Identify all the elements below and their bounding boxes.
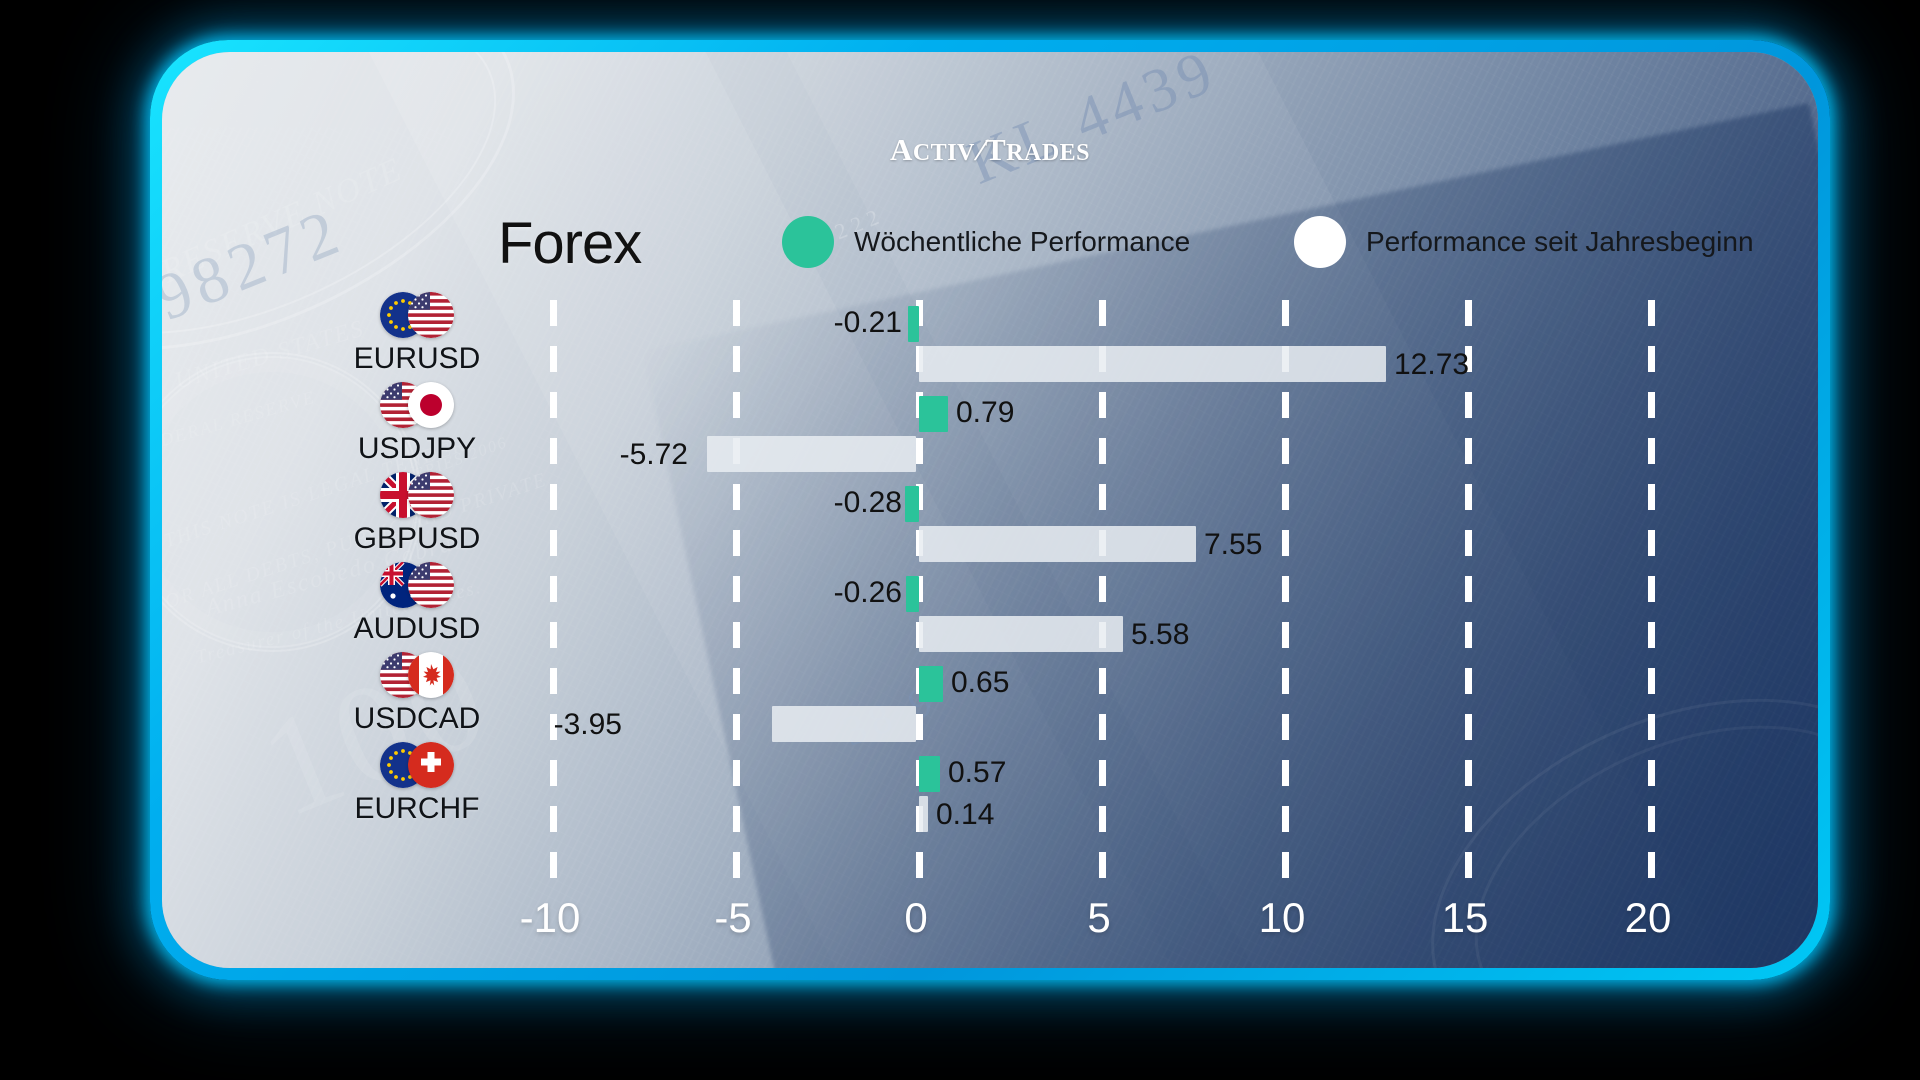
bar-value-ytd-eurusd: 12.73 bbox=[1394, 350, 1469, 380]
bar-ytd-gbpusd[interactable] bbox=[919, 526, 1196, 562]
bar-value-ytd-gbpusd: 7.55 bbox=[1204, 530, 1262, 560]
legend-label-weekly: Wöchentliche Performance bbox=[854, 226, 1190, 258]
us-flag-icon bbox=[408, 472, 454, 518]
bar-group-usdcad: 0.65 -3.95 bbox=[462, 660, 1742, 750]
logo-rades: RADES bbox=[1006, 140, 1090, 166]
x-tick-10: 10 bbox=[1259, 894, 1306, 942]
bar-group-eurchf: 0.57 0.14 bbox=[462, 750, 1742, 840]
bar-value-weekly-usdjpy: 0.79 bbox=[956, 398, 1014, 428]
bar-group-gbpusd: -0.28 7.55 bbox=[462, 480, 1742, 570]
bar-weekly-gbpusd[interactable] bbox=[905, 486, 919, 522]
bar-weekly-eurchf[interactable] bbox=[919, 756, 940, 792]
x-tick--10: -10 bbox=[520, 894, 581, 942]
bar-value-ytd-eurchf: 0.14 bbox=[936, 800, 994, 830]
legend-swatch-ytd bbox=[1294, 216, 1346, 268]
activtrades-logo: ACTIV/TRADES bbox=[890, 132, 1090, 168]
bar-group-audusd: -0.26 5.58 bbox=[462, 570, 1742, 660]
legend-label-ytd: Performance seit Jahresbeginn bbox=[1366, 226, 1754, 258]
ch-flag-icon bbox=[408, 742, 454, 788]
bar-group-usdjpy: 0.79 -5.72 bbox=[462, 390, 1742, 480]
bar-weekly-usdcad[interactable] bbox=[919, 666, 943, 702]
flag-pair-eurchf bbox=[380, 742, 454, 788]
bar-value-ytd-usdjpy: -5.72 bbox=[620, 440, 688, 470]
bar-ytd-eurusd[interactable] bbox=[919, 346, 1386, 382]
flag-pair-usdjpy bbox=[380, 382, 454, 428]
logo-a: A bbox=[890, 132, 913, 167]
screenshot-root: RESERVE NOTE UNITED STATES THIS NOTE IS … bbox=[0, 0, 1920, 1080]
flag-pair-audusd bbox=[380, 562, 454, 608]
flag-pair-eurusd bbox=[380, 292, 454, 338]
legend-item-ytd[interactable]: Performance seit Jahresbeginn bbox=[1294, 216, 1754, 268]
x-tick-5: 5 bbox=[1087, 894, 1110, 942]
page-title: Forex bbox=[498, 210, 641, 277]
bar-ytd-audusd[interactable] bbox=[919, 616, 1123, 652]
plot-area: -0.21 12.73 0.79 -5.72 -0.28 7.55 bbox=[462, 300, 1742, 880]
flag-pair-gbpusd bbox=[380, 472, 454, 518]
bar-value-weekly-eurusd: -0.21 bbox=[834, 308, 902, 338]
x-tick-0: 0 bbox=[904, 894, 927, 942]
bar-value-weekly-eurchf: 0.57 bbox=[948, 758, 1006, 788]
bar-value-weekly-usdcad: 0.65 bbox=[951, 668, 1009, 698]
x-axis-title: % Prozentuale Performance bbox=[771, 964, 1209, 968]
bar-ytd-usdcad[interactable] bbox=[772, 706, 916, 742]
bar-value-weekly-gbpusd: -0.28 bbox=[834, 488, 902, 518]
bar-group-eurusd: -0.21 12.73 bbox=[462, 300, 1742, 390]
ca-flag-icon bbox=[408, 652, 454, 698]
bar-ytd-eurchf[interactable] bbox=[919, 796, 928, 832]
jp-flag-icon bbox=[408, 382, 454, 428]
us-flag-icon bbox=[408, 292, 454, 338]
x-tick--5: -5 bbox=[714, 894, 751, 942]
flag-pair-usdcad bbox=[380, 652, 454, 698]
legend-item-weekly[interactable]: Wöchentliche Performance bbox=[782, 216, 1190, 268]
bar-ytd-usdjpy[interactable] bbox=[707, 436, 916, 472]
bar-weekly-audusd[interactable] bbox=[906, 576, 919, 612]
legend-swatch-weekly bbox=[782, 216, 834, 268]
bar-weekly-usdjpy[interactable] bbox=[919, 396, 948, 432]
bar-weekly-eurusd[interactable] bbox=[908, 306, 919, 342]
x-tick-20: 20 bbox=[1625, 894, 1672, 942]
logo-ctiv: CTIV bbox=[913, 140, 975, 166]
us-flag-icon bbox=[408, 562, 454, 608]
chart-card: RESERVE NOTE UNITED STATES THIS NOTE IS … bbox=[162, 52, 1818, 968]
bar-value-weekly-audusd: -0.26 bbox=[834, 578, 902, 608]
bar-value-ytd-usdcad: -3.95 bbox=[554, 710, 622, 740]
x-tick-15: 15 bbox=[1442, 894, 1489, 942]
bar-value-ytd-audusd: 5.58 bbox=[1131, 620, 1189, 650]
